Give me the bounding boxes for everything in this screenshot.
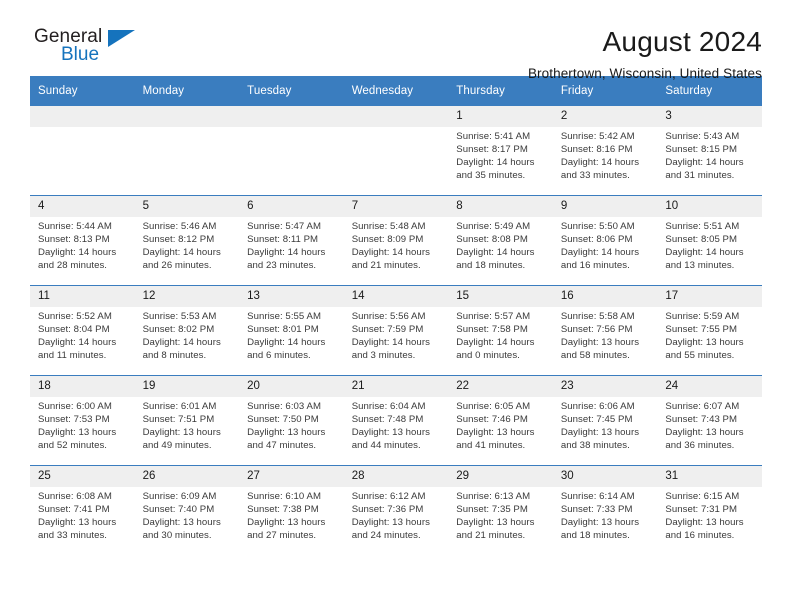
day-sun-info: Sunrise: 5:57 AMSunset: 7:58 PMDaylight:…: [448, 307, 553, 363]
calendar-day-cell[interactable]: 16Sunrise: 5:58 AMSunset: 7:56 PMDayligh…: [553, 286, 658, 376]
sunset-text: Sunset: 7:50 PM: [247, 414, 338, 427]
sunset-text: Sunset: 7:41 PM: [38, 504, 129, 517]
sunset-text: Sunset: 8:12 PM: [143, 234, 234, 247]
day-number: 4: [30, 196, 135, 217]
title-block: August 2024 Brothertown, Wisconsin, Unit…: [528, 26, 762, 84]
day-sun-info: Sunrise: 6:05 AMSunset: 7:46 PMDaylight:…: [448, 397, 553, 453]
day-number: 18: [30, 376, 135, 397]
sunset-text: Sunset: 7:48 PM: [352, 414, 443, 427]
sunrise-text: Sunrise: 5:47 AM: [247, 221, 338, 234]
calendar-day-cell-empty: [135, 106, 240, 196]
daylight-text: Daylight: 13 hours and 16 minutes.: [665, 517, 756, 543]
sunset-text: Sunset: 7:58 PM: [456, 324, 547, 337]
calendar-week-row: 18Sunrise: 6:00 AMSunset: 7:53 PMDayligh…: [30, 376, 762, 466]
sunset-text: Sunset: 8:01 PM: [247, 324, 338, 337]
sunrise-text: Sunrise: 5:48 AM: [352, 221, 443, 234]
sunset-text: Sunset: 8:09 PM: [352, 234, 443, 247]
daylight-text: Daylight: 13 hours and 36 minutes.: [665, 427, 756, 453]
calendar-body: 1Sunrise: 5:41 AMSunset: 8:17 PMDaylight…: [30, 106, 762, 555]
day-number: [344, 106, 449, 127]
sunset-text: Sunset: 8:16 PM: [561, 144, 652, 157]
day-number: 11: [30, 286, 135, 307]
day-number: 8: [448, 196, 553, 217]
page-title: August 2024: [528, 26, 762, 58]
daylight-text: Daylight: 14 hours and 33 minutes.: [561, 157, 652, 183]
sunset-text: Sunset: 8:08 PM: [456, 234, 547, 247]
sunrise-text: Sunrise: 5:42 AM: [561, 131, 652, 144]
calendar-day-cell[interactable]: 1Sunrise: 5:41 AMSunset: 8:17 PMDaylight…: [448, 106, 553, 196]
daylight-text: Daylight: 13 hours and 47 minutes.: [247, 427, 338, 453]
daylight-text: Daylight: 14 hours and 13 minutes.: [665, 247, 756, 273]
daylight-text: Daylight: 13 hours and 21 minutes.: [456, 517, 547, 543]
sunrise-text: Sunrise: 6:12 AM: [352, 491, 443, 504]
daylight-text: Daylight: 13 hours and 44 minutes.: [352, 427, 443, 453]
sunrise-text: Sunrise: 6:01 AM: [143, 401, 234, 414]
calendar-day-cell[interactable]: 26Sunrise: 6:09 AMSunset: 7:40 PMDayligh…: [135, 466, 240, 556]
calendar-day-cell[interactable]: 4Sunrise: 5:44 AMSunset: 8:13 PMDaylight…: [30, 196, 135, 286]
calendar-day-cell[interactable]: 11Sunrise: 5:52 AMSunset: 8:04 PMDayligh…: [30, 286, 135, 376]
day-sun-info: Sunrise: 5:59 AMSunset: 7:55 PMDaylight:…: [657, 307, 762, 363]
calendar-day-cell[interactable]: 29Sunrise: 6:13 AMSunset: 7:35 PMDayligh…: [448, 466, 553, 556]
sunset-text: Sunset: 7:56 PM: [561, 324, 652, 337]
day-number: 20: [239, 376, 344, 397]
day-number: 22: [448, 376, 553, 397]
daylight-text: Daylight: 14 hours and 16 minutes.: [561, 247, 652, 273]
daylight-text: Daylight: 14 hours and 26 minutes.: [143, 247, 234, 273]
daylight-text: Daylight: 14 hours and 35 minutes.: [456, 157, 547, 183]
day-number: 21: [344, 376, 449, 397]
day-number: 30: [553, 466, 658, 487]
day-sun-info: Sunrise: 5:43 AMSunset: 8:15 PMDaylight:…: [657, 127, 762, 183]
calendar-day-cell[interactable]: 12Sunrise: 5:53 AMSunset: 8:02 PMDayligh…: [135, 286, 240, 376]
sunset-text: Sunset: 7:45 PM: [561, 414, 652, 427]
sunset-text: Sunset: 7:36 PM: [352, 504, 443, 517]
day-number: [135, 106, 240, 127]
day-sun-info: Sunrise: 5:47 AMSunset: 8:11 PMDaylight:…: [239, 217, 344, 273]
day-sun-info: Sunrise: 5:50 AMSunset: 8:06 PMDaylight:…: [553, 217, 658, 273]
day-number: 13: [239, 286, 344, 307]
daylight-text: Daylight: 13 hours and 24 minutes.: [352, 517, 443, 543]
weekday-header-monday: Monday: [135, 76, 240, 106]
day-number: [239, 106, 344, 127]
daylight-text: Daylight: 13 hours and 49 minutes.: [143, 427, 234, 453]
daylight-text: Daylight: 14 hours and 6 minutes.: [247, 337, 338, 363]
calendar-day-cell[interactable]: 22Sunrise: 6:05 AMSunset: 7:46 PMDayligh…: [448, 376, 553, 466]
sunset-text: Sunset: 7:51 PM: [143, 414, 234, 427]
sunrise-text: Sunrise: 6:10 AM: [247, 491, 338, 504]
day-sun-info: Sunrise: 5:41 AMSunset: 8:17 PMDaylight:…: [448, 127, 553, 183]
day-number: 24: [657, 376, 762, 397]
day-number: [30, 106, 135, 127]
sunrise-text: Sunrise: 6:08 AM: [38, 491, 129, 504]
sunset-text: Sunset: 7:53 PM: [38, 414, 129, 427]
daylight-text: Daylight: 14 hours and 31 minutes.: [665, 157, 756, 183]
sunrise-text: Sunrise: 6:00 AM: [38, 401, 129, 414]
calendar-day-cell[interactable]: 13Sunrise: 5:55 AMSunset: 8:01 PMDayligh…: [239, 286, 344, 376]
sunrise-text: Sunrise: 5:44 AM: [38, 221, 129, 234]
daylight-text: Daylight: 13 hours and 33 minutes.: [38, 517, 129, 543]
page-header: General Blue August 2024 Brothertown, Wi…: [30, 0, 762, 72]
day-number: 7: [344, 196, 449, 217]
day-sun-info: Sunrise: 6:12 AMSunset: 7:36 PMDaylight:…: [344, 487, 449, 543]
day-number: 23: [553, 376, 658, 397]
daylight-text: Daylight: 14 hours and 11 minutes.: [38, 337, 129, 363]
day-number: 2: [553, 106, 658, 127]
sunrise-text: Sunrise: 5:51 AM: [665, 221, 756, 234]
sunset-text: Sunset: 8:17 PM: [456, 144, 547, 157]
day-sun-info: Sunrise: 5:49 AMSunset: 8:08 PMDaylight:…: [448, 217, 553, 273]
day-number: 10: [657, 196, 762, 217]
weekday-header-sunday: Sunday: [30, 76, 135, 106]
sunrise-text: Sunrise: 6:09 AM: [143, 491, 234, 504]
calendar-week-row: 11Sunrise: 5:52 AMSunset: 8:04 PMDayligh…: [30, 286, 762, 376]
day-sun-info: Sunrise: 6:10 AMSunset: 7:38 PMDaylight:…: [239, 487, 344, 543]
day-number: 15: [448, 286, 553, 307]
day-number: 6: [239, 196, 344, 217]
brand-logo[interactable]: General Blue: [30, 26, 150, 74]
sunrise-text: Sunrise: 5:55 AM: [247, 311, 338, 324]
sunrise-text: Sunrise: 5:52 AM: [38, 311, 129, 324]
brand-triangle-icon: [108, 30, 135, 47]
day-sun-info: Sunrise: 5:52 AMSunset: 8:04 PMDaylight:…: [30, 307, 135, 363]
sunset-text: Sunset: 7:59 PM: [352, 324, 443, 337]
sunset-text: Sunset: 7:33 PM: [561, 504, 652, 517]
calendar-day-cell[interactable]: 17Sunrise: 5:59 AMSunset: 7:55 PMDayligh…: [657, 286, 762, 376]
day-number: 3: [657, 106, 762, 127]
sunset-text: Sunset: 8:05 PM: [665, 234, 756, 247]
calendar-grid: Sunday Monday Tuesday Wednesday Thursday…: [30, 76, 762, 555]
sunrise-text: Sunrise: 5:50 AM: [561, 221, 652, 234]
calendar-day-cell[interactable]: 2Sunrise: 5:42 AMSunset: 8:16 PMDaylight…: [553, 106, 658, 196]
sunrise-text: Sunrise: 5:46 AM: [143, 221, 234, 234]
calendar-day-cell[interactable]: 28Sunrise: 6:12 AMSunset: 7:36 PMDayligh…: [344, 466, 449, 556]
sunrise-text: Sunrise: 5:49 AM: [456, 221, 547, 234]
daylight-text: Daylight: 13 hours and 38 minutes.: [561, 427, 652, 453]
sunrise-text: Sunrise: 5:53 AM: [143, 311, 234, 324]
sunrise-text: Sunrise: 6:07 AM: [665, 401, 756, 414]
day-sun-info: Sunrise: 6:13 AMSunset: 7:35 PMDaylight:…: [448, 487, 553, 543]
day-sun-info: Sunrise: 5:44 AMSunset: 8:13 PMDaylight:…: [30, 217, 135, 273]
daylight-text: Daylight: 13 hours and 30 minutes.: [143, 517, 234, 543]
brand-name-blue: Blue: [61, 44, 99, 66]
daylight-text: Daylight: 14 hours and 21 minutes.: [352, 247, 443, 273]
sunrise-text: Sunrise: 6:03 AM: [247, 401, 338, 414]
day-sun-info: Sunrise: 5:56 AMSunset: 7:59 PMDaylight:…: [344, 307, 449, 363]
calendar-day-cell[interactable]: 25Sunrise: 6:08 AMSunset: 7:41 PMDayligh…: [30, 466, 135, 556]
day-number: 26: [135, 466, 240, 487]
sunrise-text: Sunrise: 6:13 AM: [456, 491, 547, 504]
sunrise-text: Sunrise: 6:14 AM: [561, 491, 652, 504]
sunset-text: Sunset: 7:55 PM: [665, 324, 756, 337]
day-number: 27: [239, 466, 344, 487]
daylight-text: Daylight: 14 hours and 23 minutes.: [247, 247, 338, 273]
daylight-text: Daylight: 14 hours and 0 minutes.: [456, 337, 547, 363]
sunrise-text: Sunrise: 6:04 AM: [352, 401, 443, 414]
sunset-text: Sunset: 8:15 PM: [665, 144, 756, 157]
daylight-text: Daylight: 14 hours and 18 minutes.: [456, 247, 547, 273]
day-sun-info: Sunrise: 5:55 AMSunset: 8:01 PMDaylight:…: [239, 307, 344, 363]
calendar-day-cell[interactable]: 14Sunrise: 5:56 AMSunset: 7:59 PMDayligh…: [344, 286, 449, 376]
page-subtitle: Brothertown, Wisconsin, United States: [528, 64, 762, 84]
sunset-text: Sunset: 7:38 PM: [247, 504, 338, 517]
day-number: 14: [344, 286, 449, 307]
sunrise-text: Sunrise: 5:57 AM: [456, 311, 547, 324]
calendar-day-cell[interactable]: 15Sunrise: 5:57 AMSunset: 7:58 PMDayligh…: [448, 286, 553, 376]
calendar-day-cell[interactable]: 24Sunrise: 6:07 AMSunset: 7:43 PMDayligh…: [657, 376, 762, 466]
daylight-text: Daylight: 13 hours and 58 minutes.: [561, 337, 652, 363]
daylight-text: Daylight: 13 hours and 41 minutes.: [456, 427, 547, 453]
day-number: 29: [448, 466, 553, 487]
sunset-text: Sunset: 8:06 PM: [561, 234, 652, 247]
weekday-header-tuesday: Tuesday: [239, 76, 344, 106]
calendar-day-cell-empty: [30, 106, 135, 196]
day-sun-info: Sunrise: 6:01 AMSunset: 7:51 PMDaylight:…: [135, 397, 240, 453]
calendar-day-cell[interactable]: 10Sunrise: 5:51 AMSunset: 8:05 PMDayligh…: [657, 196, 762, 286]
calendar-week-row: 1Sunrise: 5:41 AMSunset: 8:17 PMDaylight…: [30, 106, 762, 196]
day-number: 25: [30, 466, 135, 487]
calendar-day-cell[interactable]: 18Sunrise: 6:00 AMSunset: 7:53 PMDayligh…: [30, 376, 135, 466]
day-sun-info: Sunrise: 5:46 AMSunset: 8:12 PMDaylight:…: [135, 217, 240, 273]
sunrise-text: Sunrise: 6:15 AM: [665, 491, 756, 504]
day-sun-info: Sunrise: 5:53 AMSunset: 8:02 PMDaylight:…: [135, 307, 240, 363]
day-number: 16: [553, 286, 658, 307]
calendar-day-cell[interactable]: 7Sunrise: 5:48 AMSunset: 8:09 PMDaylight…: [344, 196, 449, 286]
calendar-day-cell[interactable]: 3Sunrise: 5:43 AMSunset: 8:15 PMDaylight…: [657, 106, 762, 196]
daylight-text: Daylight: 14 hours and 28 minutes.: [38, 247, 129, 273]
sunset-text: Sunset: 7:40 PM: [143, 504, 234, 517]
sunset-text: Sunset: 8:11 PM: [247, 234, 338, 247]
calendar-week-row: 25Sunrise: 6:08 AMSunset: 7:41 PMDayligh…: [30, 466, 762, 556]
day-sun-info: Sunrise: 5:58 AMSunset: 7:56 PMDaylight:…: [553, 307, 658, 363]
sunset-text: Sunset: 7:43 PM: [665, 414, 756, 427]
day-number: 19: [135, 376, 240, 397]
sunrise-text: Sunrise: 5:41 AM: [456, 131, 547, 144]
sunrise-text: Sunrise: 5:59 AM: [665, 311, 756, 324]
sunrise-text: Sunrise: 6:06 AM: [561, 401, 652, 414]
day-sun-info: Sunrise: 5:51 AMSunset: 8:05 PMDaylight:…: [657, 217, 762, 273]
sunset-text: Sunset: 7:46 PM: [456, 414, 547, 427]
day-sun-info: Sunrise: 6:00 AMSunset: 7:53 PMDaylight:…: [30, 397, 135, 453]
day-number: 12: [135, 286, 240, 307]
calendar-day-cell[interactable]: 30Sunrise: 6:14 AMSunset: 7:33 PMDayligh…: [553, 466, 658, 556]
calendar-day-cell[interactable]: 5Sunrise: 5:46 AMSunset: 8:12 PMDaylight…: [135, 196, 240, 286]
day-sun-info: Sunrise: 6:08 AMSunset: 7:41 PMDaylight:…: [30, 487, 135, 543]
calendar-day-cell[interactable]: 9Sunrise: 5:50 AMSunset: 8:06 PMDaylight…: [553, 196, 658, 286]
day-number: 17: [657, 286, 762, 307]
daylight-text: Daylight: 14 hours and 8 minutes.: [143, 337, 234, 363]
sunset-text: Sunset: 8:13 PM: [38, 234, 129, 247]
day-sun-info: Sunrise: 6:09 AMSunset: 7:40 PMDaylight:…: [135, 487, 240, 543]
day-number: 5: [135, 196, 240, 217]
day-number: 1: [448, 106, 553, 127]
daylight-text: Daylight: 14 hours and 3 minutes.: [352, 337, 443, 363]
daylight-text: Daylight: 13 hours and 52 minutes.: [38, 427, 129, 453]
sunrise-text: Sunrise: 5:58 AM: [561, 311, 652, 324]
daylight-text: Daylight: 13 hours and 55 minutes.: [665, 337, 756, 363]
day-sun-info: Sunrise: 5:42 AMSunset: 8:16 PMDaylight:…: [553, 127, 658, 183]
calendar-day-cell-empty: [239, 106, 344, 196]
calendar-day-cell[interactable]: 27Sunrise: 6:10 AMSunset: 7:38 PMDayligh…: [239, 466, 344, 556]
sunset-text: Sunset: 8:02 PM: [143, 324, 234, 337]
calendar-week-row: 4Sunrise: 5:44 AMSunset: 8:13 PMDaylight…: [30, 196, 762, 286]
daylight-text: Daylight: 13 hours and 18 minutes.: [561, 517, 652, 543]
day-sun-info: Sunrise: 5:48 AMSunset: 8:09 PMDaylight:…: [344, 217, 449, 273]
day-sun-info: Sunrise: 6:03 AMSunset: 7:50 PMDaylight:…: [239, 397, 344, 453]
day-number: 28: [344, 466, 449, 487]
day-number: 31: [657, 466, 762, 487]
day-sun-info: Sunrise: 6:07 AMSunset: 7:43 PMDaylight:…: [657, 397, 762, 453]
day-sun-info: Sunrise: 6:15 AMSunset: 7:31 PMDaylight:…: [657, 487, 762, 543]
calendar-page: General Blue August 2024 Brothertown, Wi…: [0, 0, 792, 612]
day-number: 9: [553, 196, 658, 217]
sunrise-text: Sunrise: 6:05 AM: [456, 401, 547, 414]
day-sun-info: Sunrise: 6:14 AMSunset: 7:33 PMDaylight:…: [553, 487, 658, 543]
calendar-day-cell-empty: [344, 106, 449, 196]
calendar-day-cell[interactable]: 20Sunrise: 6:03 AMSunset: 7:50 PMDayligh…: [239, 376, 344, 466]
calendar-day-cell[interactable]: 23Sunrise: 6:06 AMSunset: 7:45 PMDayligh…: [553, 376, 658, 466]
sunset-text: Sunset: 7:35 PM: [456, 504, 547, 517]
sunset-text: Sunset: 7:31 PM: [665, 504, 756, 517]
calendar-day-cell[interactable]: 21Sunrise: 6:04 AMSunset: 7:48 PMDayligh…: [344, 376, 449, 466]
sunset-text: Sunset: 8:04 PM: [38, 324, 129, 337]
daylight-text: Daylight: 13 hours and 27 minutes.: [247, 517, 338, 543]
calendar-day-cell[interactable]: 8Sunrise: 5:49 AMSunset: 8:08 PMDaylight…: [448, 196, 553, 286]
day-sun-info: Sunrise: 6:06 AMSunset: 7:45 PMDaylight:…: [553, 397, 658, 453]
calendar-day-cell[interactable]: 19Sunrise: 6:01 AMSunset: 7:51 PMDayligh…: [135, 376, 240, 466]
calendar-day-cell[interactable]: 6Sunrise: 5:47 AMSunset: 8:11 PMDaylight…: [239, 196, 344, 286]
calendar-day-cell[interactable]: 31Sunrise: 6:15 AMSunset: 7:31 PMDayligh…: [657, 466, 762, 556]
weekday-header-wednesday: Wednesday: [344, 76, 449, 106]
day-sun-info: Sunrise: 6:04 AMSunset: 7:48 PMDaylight:…: [344, 397, 449, 453]
sunrise-text: Sunrise: 5:56 AM: [352, 311, 443, 324]
sunrise-text: Sunrise: 5:43 AM: [665, 131, 756, 144]
